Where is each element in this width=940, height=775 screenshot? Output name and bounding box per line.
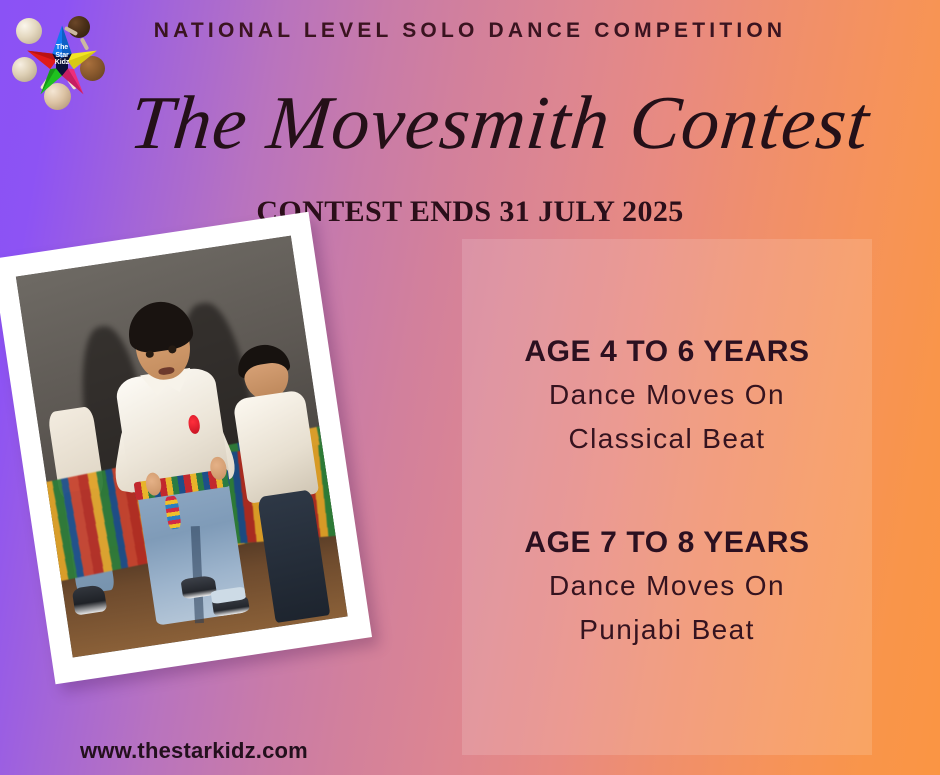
polaroid-photo-frame	[0, 212, 372, 685]
category-desc-line2: Punjabi Beat	[462, 608, 872, 652]
category-desc-line2: Classical Beat	[462, 417, 872, 461]
poster-canvas: The Star Kidz NATIONAL LEVEL SOLO DANCE …	[0, 0, 940, 775]
kicker-heading: NATIONAL LEVEL SOLO DANCE COMPETITION	[150, 16, 790, 46]
category-block-age-4-6: AGE 4 TO 6 YEARS Dance Moves On Classica…	[462, 331, 872, 461]
category-title: AGE 7 TO 8 YEARS	[462, 522, 872, 564]
dancer-left-shoe	[72, 584, 108, 615]
dancer-right-pants	[257, 489, 330, 623]
the-star-kidz-logo[interactable]: The Star Kidz	[12, 12, 112, 112]
page-title: The Movesmith Contest	[125, 78, 874, 168]
dance-photo	[16, 236, 348, 658]
categories-panel: AGE 4 TO 6 YEARS Dance Moves On Classica…	[462, 239, 872, 755]
category-title: AGE 4 TO 6 YEARS	[462, 331, 872, 373]
category-block-age-7-8: AGE 7 TO 8 YEARS Dance Moves On Punjabi …	[462, 522, 872, 652]
category-desc-line1: Dance Moves On	[462, 564, 872, 608]
category-desc-line1: Dance Moves On	[462, 373, 872, 417]
website-url[interactable]: www.thestarkidz.com	[80, 738, 308, 764]
star-icon	[25, 24, 99, 98]
